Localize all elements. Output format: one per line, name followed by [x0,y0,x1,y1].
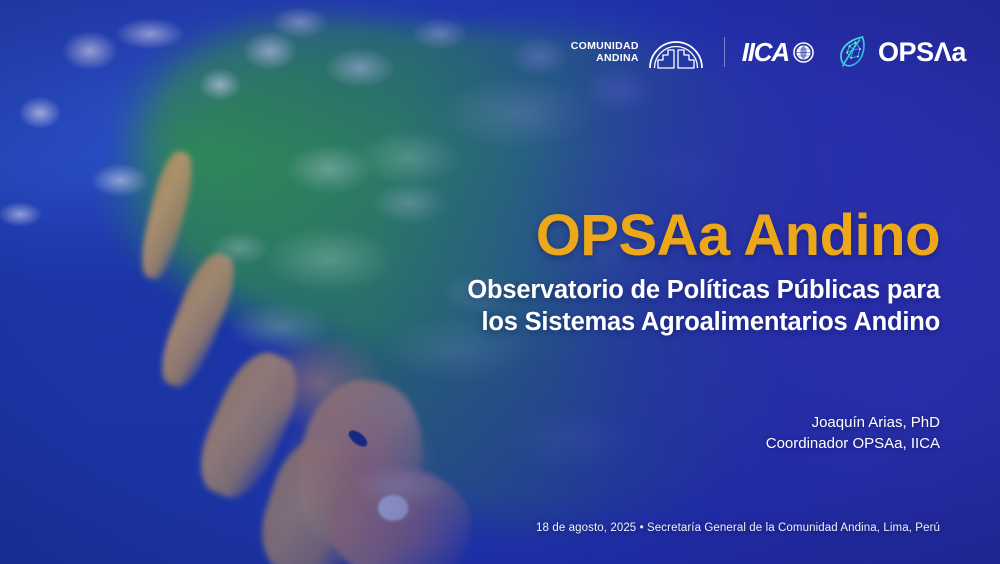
leaf-network-icon [836,33,869,71]
subtitle-line-2: los Sistemas Agroalimentarios Andino [420,306,940,338]
logo-comunidad-andina: COMUNIDAD ANDINA [571,35,704,69]
globe-icon [793,42,814,63]
iica-wordmark: IICA [742,39,789,65]
salar-de-uyuni [376,492,411,524]
logo-iica: IICA [742,39,814,65]
logo-divider [724,37,725,67]
can-line-1: COMUNIDAD [571,40,639,52]
opsaa-wordmark: OPSΛa [878,39,966,66]
logo-opsaa: OPSΛa [836,33,966,71]
page-subtitle: Observatorio de Políticas Públicas para … [420,274,940,338]
author-name: Joaquín Arias, PhD [766,412,940,433]
slide-footer: 18 de agosto, 2025 • Secretaría General … [536,521,940,536]
can-line-2: ANDINA [571,52,639,64]
subtitle-line-1: Observatorio de Políticas Públicas para [420,274,940,306]
andean-arch-icon [648,35,704,69]
title-block: OPSAa Andino Observatorio de Políticas P… [420,206,940,338]
logo-bar: COMUNIDAD ANDINA IICA [571,33,966,71]
page-title: OPSAa Andino [420,206,940,265]
author-block: Joaquín Arias, PhD Coordinador OPSAa, II… [766,412,940,455]
lake-titicaca [346,427,370,449]
can-wordmark: COMUNIDAD ANDINA [571,40,639,65]
presentation-slide: COMUNIDAD ANDINA IICA [0,0,1000,564]
author-role: Coordinador OPSAa, IICA [766,433,940,454]
